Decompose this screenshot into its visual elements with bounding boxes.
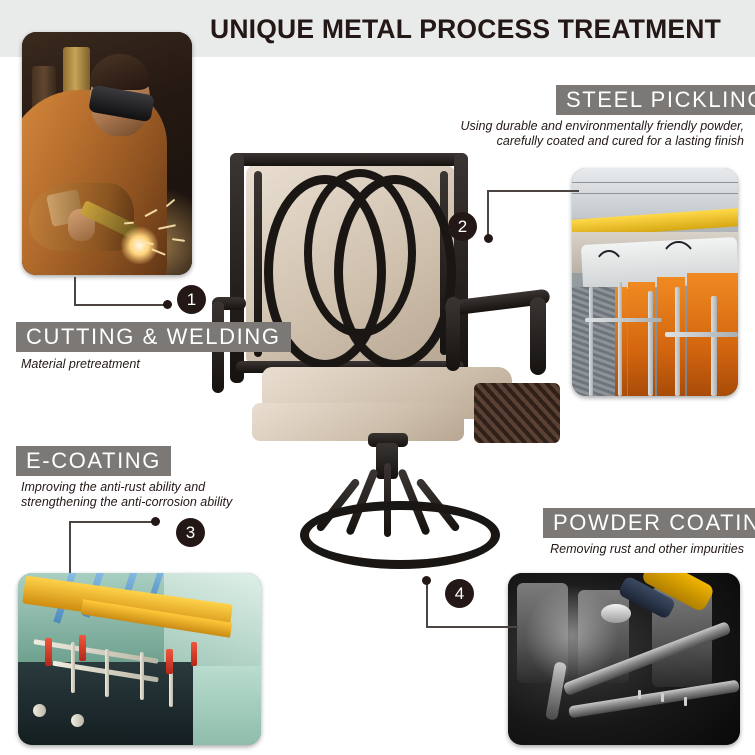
connector-4-horizontal [426,626,518,628]
step-badge-2: 2 [448,212,477,241]
step-badge-4: 4 [445,579,474,608]
step-desc-4: Removing rust and other impurities [444,542,744,557]
page-title: UNIQUE METAL PROCESS TREATMENT [210,9,750,49]
connector-2-vertical [487,190,489,238]
step-badge-1: 1 [177,285,206,314]
photo-powder-coating [508,573,740,745]
step-desc-1: Material pretreatment [21,357,261,372]
step-desc-2-line1: Using durable and environmentally friend… [444,119,744,134]
connector-3-vertical [69,521,71,573]
photo-e-coating [18,573,261,745]
connector-2-horizontal [487,190,579,192]
step-desc-3-line2: strengthening the anti-corrosion ability [21,495,281,510]
photo-steel-pickling [572,168,738,396]
connector-4-dot [422,576,431,585]
chair-base-ring [300,501,500,569]
step-desc-2-line2: carefully coated and cured for a lasting… [444,134,744,149]
connector-3-horizontal [69,521,155,523]
connector-1-vertical [74,277,76,306]
step-title-4: POWDER COATING [543,508,755,538]
connector-1-dot [163,300,172,309]
step-title-1: CUTTING & WELDING [16,322,291,352]
connector-3-dot [151,517,160,526]
wicker-panel [474,383,560,443]
photo-cutting-welding [22,32,192,275]
connector-1-horizontal [74,304,168,306]
step-badge-3: 3 [176,518,205,547]
step-desc-3-line1: Improving the anti-rust ability and [21,480,281,495]
infographic-page: UNIQUE METAL PROCESS TREATMENT [0,0,755,755]
connector-2-dot [484,234,493,243]
step-title-2: STEEL PICKLING [556,85,755,115]
connector-4-vertical [426,580,428,628]
step-title-3: E-COATING [16,446,171,476]
